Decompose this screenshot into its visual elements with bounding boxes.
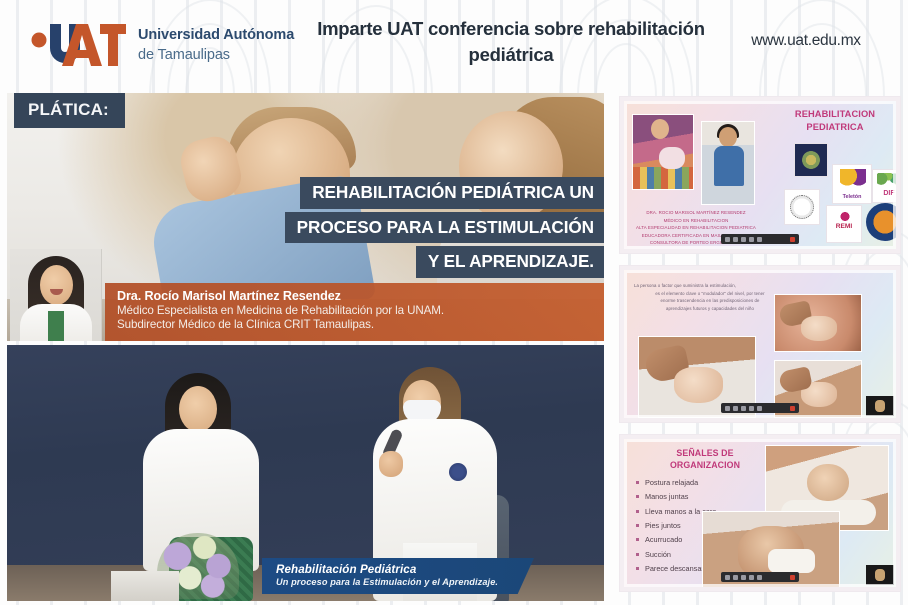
speaker-credential-1: Médico Especialista en Medicina de Rehab…: [117, 304, 594, 319]
leave-call-icon[interactable]: [790, 406, 795, 411]
speaker-name: Dra. Rocío Marisol Martínez Resendez: [117, 289, 594, 303]
page-header: Universidad Autónoma de Tamaulipas Impar…: [0, 0, 908, 89]
list-item: Manos juntas: [634, 491, 764, 503]
conference-video-frame[interactable]: Rehabilitación Pediátrica Un proceso par…: [7, 345, 604, 601]
slide-thumbnail-3[interactable]: SEÑALES DE ORGANIZACION Postura relajada…: [619, 434, 901, 592]
slide-2-canvas: La persona o factor que suministra la es…: [624, 270, 896, 418]
chat-icon[interactable]: [757, 237, 762, 242]
hero-title-line-3: Y EL APRENDIZAJE.: [416, 246, 604, 278]
speaker-credential-2: Subdirector Médico de la Clínica CRIT Ta…: [117, 318, 594, 333]
uat-logo-text: Universidad Autónoma de Tamaulipas: [138, 25, 294, 65]
hero-title-line-1: REHABILITACIÓN PEDIÁTRICA UN: [300, 177, 604, 209]
mic-icon[interactable]: [725, 406, 730, 411]
chat-icon[interactable]: [757, 406, 762, 411]
lower-third-caption: Rehabilitación Pediátrica Un proceso par…: [262, 558, 534, 594]
slide-2-bullet-1: La persona o factor que suministra la es…: [634, 282, 786, 290]
hero-title-line-2: PROCESO PARA LA ESTIMULACIÓN: [285, 212, 604, 244]
mic-icon[interactable]: [725, 237, 730, 242]
side-table: [111, 571, 179, 601]
camera-icon[interactable]: [733, 575, 738, 580]
meeting-controls-toolbar[interactable]: [721, 403, 799, 413]
platica-badge: PLÁTICA:: [14, 93, 125, 128]
share-screen-icon[interactable]: [741, 406, 746, 411]
remi-logo-icon: REMI: [826, 205, 862, 243]
uat-logo: Universidad Autónoma de Tamaulipas: [22, 22, 294, 68]
uat-logo-mark-icon: [22, 22, 128, 68]
page-title: Imparte UAT conferencia sobre rehabilita…: [316, 16, 706, 69]
participants-icon[interactable]: [749, 575, 754, 580]
slide-2-bullet-3: enorme trascendencia en las predisposici…: [634, 297, 786, 305]
certification-seal-logo-icon: [784, 189, 820, 225]
slide-1-credit-1: DRA. ROCIO MARISOL MARTÍNEZ RESENDEZ: [631, 209, 761, 217]
participants-icon[interactable]: [749, 237, 754, 242]
remi-logo-label: REMI: [827, 223, 861, 230]
dif-logo-icon: DIF: [872, 169, 896, 203]
camera-icon[interactable]: [733, 406, 738, 411]
speaker-video-tile[interactable]: [866, 396, 894, 416]
share-screen-icon[interactable]: [741, 237, 746, 242]
speaker-headshot-avatar: [10, 249, 102, 341]
camera-icon[interactable]: [733, 237, 738, 242]
teleton-logo-icon: Teletón: [832, 164, 872, 204]
slide-1-canvas: REHABILITACION PEDIATRICA DRA. ROCIO MAR…: [624, 101, 896, 249]
lower-third-title: Rehabilitación Pediátrica: [276, 563, 534, 576]
hero-title-stack: REHABILITACIÓN PEDIÁTRICA UN PROCESO PAR…: [285, 177, 604, 281]
mic-icon[interactable]: [725, 575, 730, 580]
slide-1-title: REHABILITACION PEDIATRICA: [772, 108, 896, 133]
slide-1-credit-2: MÉDICO EN REHABILITACION: [631, 217, 761, 225]
slide-2-bullet-block: La persona o factor que suministra la es…: [634, 282, 786, 313]
unam-logo-icon: [794, 143, 828, 177]
quality-seal-logo-icon: [866, 203, 896, 241]
slide-thumbnail-column: REHABILITACION PEDIATRICA DRA. ROCIO MAR…: [619, 96, 901, 592]
slide-1-photo-mother-baby: [632, 114, 694, 190]
slide-3-canvas: SEÑALES DE ORGANIZACION Postura relajada…: [624, 439, 896, 587]
logo-line-2: de Tamaulipas: [138, 45, 294, 65]
slide-2-bullet-2: es el elemento clave o "modulador" del n…: [634, 290, 786, 298]
speaker-video-tile[interactable]: [866, 565, 894, 585]
slide-thumbnail-1[interactable]: REHABILITACION PEDIATRICA DRA. ROCIO MAR…: [619, 96, 901, 254]
leave-call-icon[interactable]: [790, 575, 795, 580]
list-item: Postura relajada: [634, 477, 764, 489]
participants-icon[interactable]: [749, 406, 754, 411]
slide-thumbnail-2[interactable]: La persona o factor que suministra la es…: [619, 265, 901, 423]
slide-1-photo-babywearing: [701, 121, 755, 205]
hero-photo-block: PLÁTICA: REHABILITACIÓN PEDIÁTRICA UN PR…: [7, 93, 604, 341]
meeting-controls-toolbar[interactable]: [721, 234, 799, 244]
meeting-controls-toolbar[interactable]: [721, 572, 799, 582]
chat-icon[interactable]: [757, 575, 762, 580]
share-screen-icon[interactable]: [741, 575, 746, 580]
lower-third-subtitle: Un proceso para la Estimulación y el Apr…: [276, 577, 534, 587]
slide-2-bullet-4: aprendizajes futuros y capacidades del n…: [634, 305, 786, 313]
dif-logo-label: DIF: [873, 190, 896, 197]
teleton-logo-label: Teletón: [833, 194, 871, 200]
site-url: www.uat.edu.mx: [716, 32, 896, 50]
leave-call-icon[interactable]: [790, 237, 795, 242]
logo-line-1: Universidad Autónoma: [138, 25, 294, 45]
screenshot-root: Universidad Autónoma de Tamaulipas Impar…: [0, 0, 908, 605]
slide-1-credit-3: ALTA ESPECIALIDAD EN REHABILITACION PEDI…: [631, 224, 761, 232]
slide-2-photo-hands-newborn: [774, 294, 862, 352]
slide-3-title: SEÑALES DE ORGANIZACION: [646, 447, 764, 472]
speaker-info-bar: Dra. Rocío Marisol Martínez Resendez Méd…: [105, 283, 604, 341]
